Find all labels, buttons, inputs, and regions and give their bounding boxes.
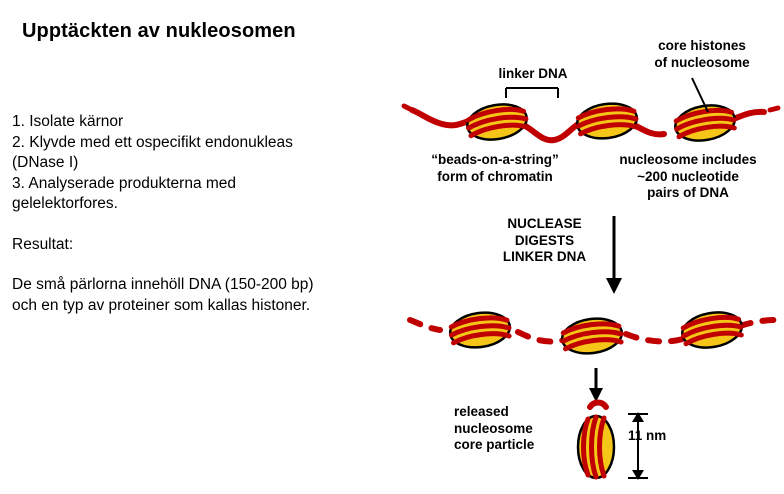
nucleosome-mid-3 [680, 308, 745, 352]
nucleosome-diagram: linker DNA core histones of nucleosome “… [400, 0, 784, 494]
nucleosome-mid-1 [448, 309, 512, 351]
nuclease-arrow [606, 216, 622, 294]
release-arrow [589, 368, 603, 402]
steps-paragraph: 1. Isolate kärnor 2. Klyvde med ett ospe… [12, 112, 412, 215]
spacer-2 [12, 255, 412, 275]
nucleosome-top-2 [575, 100, 639, 142]
result-paragraph: De små pärlorna innehöll DNA (150-200 bp… [12, 275, 412, 316]
slide-root: Upptäckten av nukleosomen 1. Isolate kär… [0, 0, 784, 494]
linker-dna-bracket [506, 88, 558, 98]
dimension-11nm [628, 412, 648, 480]
body-text-block: 1. Isolate kärnor 2. Klyvde med ett ospe… [12, 112, 412, 316]
diagram-artwork [400, 0, 784, 494]
spacer-1 [12, 215, 412, 235]
nucleosome-core-particle [578, 403, 614, 479]
nucleosome-top-1 [465, 100, 530, 144]
result-label: Resultat: [12, 235, 412, 256]
nucleosome-mid-2 [560, 315, 624, 357]
page-title: Upptäckten av nukleosomen [22, 20, 296, 43]
